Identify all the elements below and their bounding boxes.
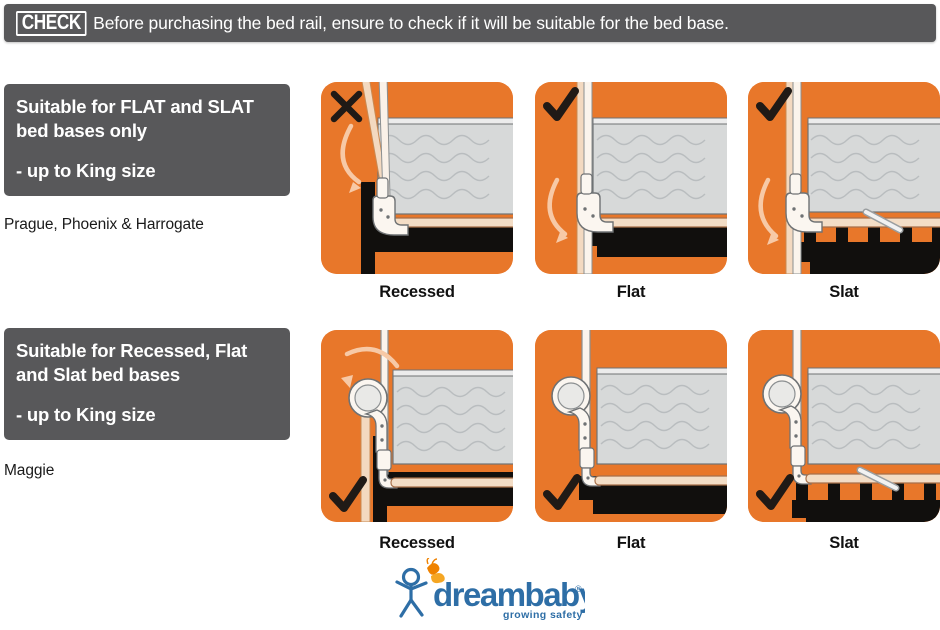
tile-label-row2-slat: Slat [748,534,940,553]
logo-wordmark: dreambaby [433,576,585,613]
tile-row1-slat [748,82,940,274]
tile-label-row1-recessed: Recessed [321,283,513,302]
description-box-1-line1: Suitable for FLAT and SLAT bed bases onl… [16,95,278,143]
check-badge: CHECK [16,11,87,36]
description-box-1: Suitable for FLAT and SLAT bed bases onl… [4,84,290,196]
tile-row2-recessed [321,330,513,522]
check-message: Before purchasing the bed rail, ensure t… [93,13,729,34]
tile-label-row2-recessed: Recessed [321,534,513,553]
tile-row2-slat [748,330,940,522]
description-box-2-line1: Suitable for Recessed, Flat and Slat bed… [16,339,278,387]
tile-label-row2-flat: Flat [535,534,727,553]
infographic-page: CHECK Before purchasing the bed rail, en… [0,0,940,630]
tile-row2-flat [535,330,727,522]
dreambaby-logo: dreambaby ® growing safety [385,558,585,624]
tile-row1-flat [535,82,727,274]
tile-label-row1-flat: Flat [535,283,727,302]
description-box-1-line2: - up to King size [16,159,278,183]
logo-registered: ® [575,584,582,594]
logo-tagline: growing safety [503,609,583,621]
description-box-2: Suitable for Recessed, Flat and Slat bed… [4,328,290,440]
tile-label-row1-slat: Slat [748,283,940,302]
child-figure-icon [397,570,426,617]
model-list-2: Maggie [4,462,54,480]
tile-row1-recessed [321,82,513,274]
description-box-2-line2: - up to King size [16,403,278,427]
model-list-1: Prague, Phoenix & Harrogate [4,216,204,234]
check-header-bar: CHECK Before purchasing the bed rail, en… [4,4,936,42]
